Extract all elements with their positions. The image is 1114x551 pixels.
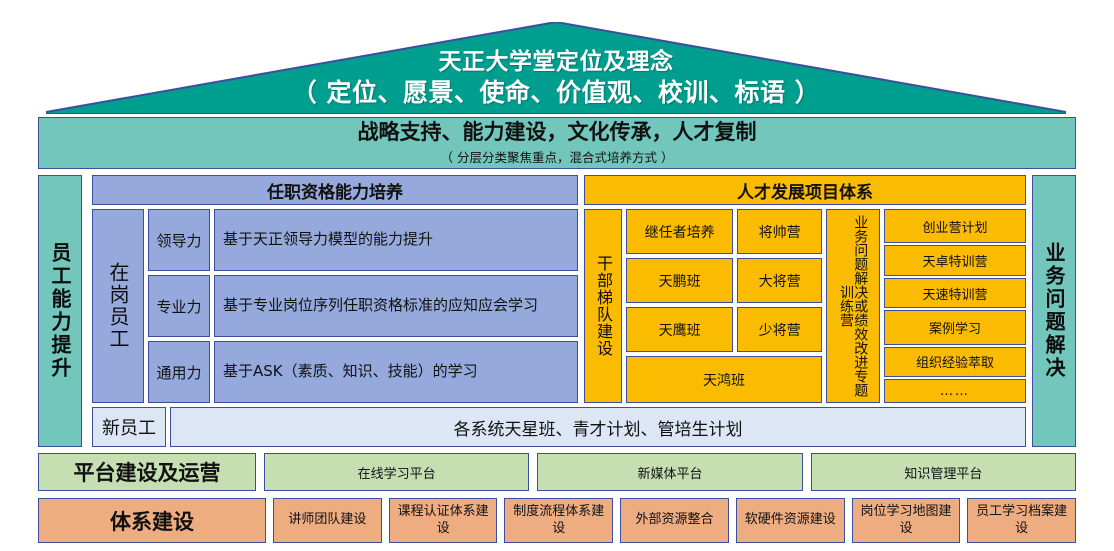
cadre-echelon-column: 干部梯队建设 xyxy=(584,209,622,403)
capability-category: 通用力 xyxy=(148,341,210,403)
capability-description: 基于专业岗位序列任职资格标准的应知应会学习 xyxy=(214,275,578,337)
camps-row: 天鹰班 少将营 xyxy=(626,307,822,352)
new-employee-label: 新员工 xyxy=(92,407,166,447)
capability-category: 专业力 xyxy=(148,275,210,337)
qualification-rows: 领导力 基于天正领导力模型的能力提升 专业力 基于专业岗位序列任职资格标准的应知… xyxy=(148,209,578,403)
capability-description: 基于ASK（素质、知识、技能）的学习 xyxy=(214,341,578,403)
cadre-echelon-label: 干部梯队建设 xyxy=(595,255,611,357)
capability-description: 基于天正领导力模型的能力提升 xyxy=(214,209,578,271)
pyramid-framework-diagram: 天正大学堂定位及理念 （ 定位、愿景、使命、价值观、校训、标语 ） 战略支持、能… xyxy=(0,0,1114,551)
table-row: 专业力 基于专业岗位序列任职资格标准的应知应会学习 xyxy=(148,275,578,337)
special-program-item: 案例学习 xyxy=(884,310,1026,344)
strategy-main-text: 战略支持、能力建设，文化传承，人才复制 xyxy=(358,120,757,144)
camp-item: 天鹰班 xyxy=(626,307,733,352)
camps-grid: 继任者培养 将帅营 天鹏班 大将营 天鹰班 少将营 天鸿班 xyxy=(626,209,822,403)
special-programs-column: 创业营计划 天卓特训营 天速特训营 案例学习 组织经验萃取 …… xyxy=(884,209,1026,403)
system-construction-row: 体系建设 讲师团队建设 课程认证体系建设 制度流程体系建设 外部资源整合 软硬件… xyxy=(38,498,1076,543)
qualification-title: 任职资格能力培养 xyxy=(92,175,578,205)
strategy-sub-text: （ 分层分类聚焦重点，混合式培养方式 ） xyxy=(441,147,674,166)
new-employee-row: 新员工 各系统天星班、青才计划、管培生计划 xyxy=(92,407,1026,447)
platform-item: 知识管理平台 xyxy=(811,453,1076,491)
special-program-ellipsis: …… xyxy=(884,379,1026,403)
camp-item: 继任者培养 xyxy=(626,209,733,254)
right-band-label: 业务问题解决 xyxy=(1044,242,1064,380)
system-item: 外部资源整合 xyxy=(620,498,729,543)
special-program-item: 天卓特训营 xyxy=(884,245,1026,276)
platform-title: 平台建设及运营 xyxy=(38,453,256,491)
right-band-business-problem: 业务问题解决 xyxy=(1032,175,1076,447)
talent-development-body: 干部梯队建设 继任者培养 将帅营 天鹏班 大将营 天鹰班 少将营 xyxy=(584,209,1026,403)
system-item: 岗位学习地图建设 xyxy=(852,498,961,543)
platform-row: 平台建设及运营 在线学习平台 新媒体平台 知识管理平台 xyxy=(38,453,1076,491)
system-item: 软硬件资源建设 xyxy=(736,498,845,543)
platform-item: 新媒体平台 xyxy=(537,453,802,491)
talent-development-panel: 人才发展项目体系 干部梯队建设 继任者培养 将帅营 天鹏班 大将营 天鹰班 xyxy=(584,175,1026,403)
camps-row: 继任者培养 将帅营 xyxy=(626,209,822,254)
left-band-employee-capability: 员工能力提升 xyxy=(38,175,82,447)
special-program-item: 创业营计划 xyxy=(884,209,1026,243)
camp-item: 大将营 xyxy=(737,258,822,303)
strategy-banner: 战略支持、能力建设，文化传承，人才复制 （ 分层分类聚焦重点，混合式培养方式 ） xyxy=(38,117,1076,169)
main-body-row: 员工能力提升 业务问题解决 任职资格能力培养 在岗员工 领导力 基于天正领导力模… xyxy=(38,175,1076,447)
business-problem-training-column: 业务问题解决或绩效改进专题训练营 xyxy=(826,209,880,403)
system-item: 员工学习档案建设 xyxy=(967,498,1076,543)
new-employee-programs: 各系统天星班、青才计划、管培生计划 xyxy=(170,407,1026,447)
roof-title-line2: （ 定位、愿景、使命、价值观、校训、标语 ） xyxy=(46,77,1066,109)
system-item: 讲师团队建设 xyxy=(273,498,382,543)
business-problem-training-label: 业务问题解决或绩效改进专题训练营 xyxy=(839,210,868,402)
camp-item-wide: 天鸿班 xyxy=(626,356,822,403)
capability-category: 领导力 xyxy=(148,209,210,271)
camp-item: 将帅营 xyxy=(737,209,822,254)
special-program-item: 天速特训营 xyxy=(884,278,1026,309)
table-row: 领导力 基于天正领导力模型的能力提升 xyxy=(148,209,578,271)
on-job-employee-column: 在岗员工 xyxy=(92,209,144,403)
roof-section: 天正大学堂定位及理念 （ 定位、愿景、使命、价值观、校训、标语 ） xyxy=(46,22,1066,114)
camp-item: 少将营 xyxy=(737,307,822,352)
system-item: 制度流程体系建设 xyxy=(504,498,613,543)
system-title: 体系建设 xyxy=(38,498,266,543)
qualification-panel: 任职资格能力培养 在岗员工 领导力 基于天正领导力模型的能力提升 专业力 基于专… xyxy=(92,175,578,403)
roof-text-block: 天正大学堂定位及理念 （ 定位、愿景、使命、价值观、校训、标语 ） xyxy=(46,48,1066,109)
platform-item: 在线学习平台 xyxy=(264,453,529,491)
special-program-item: 组织经验萃取 xyxy=(884,347,1026,378)
talent-development-title: 人才发展项目体系 xyxy=(584,175,1026,205)
table-row: 通用力 基于ASK（素质、知识、技能）的学习 xyxy=(148,341,578,403)
camps-row: 天鹏班 大将营 xyxy=(626,258,822,303)
on-job-employee-label: 在岗员工 xyxy=(108,262,128,350)
system-item: 课程认证体系建设 xyxy=(389,498,498,543)
roof-title-line1: 天正大学堂定位及理念 xyxy=(46,48,1066,77)
camp-item: 天鹏班 xyxy=(626,258,733,303)
left-band-label: 员工能力提升 xyxy=(50,242,70,380)
